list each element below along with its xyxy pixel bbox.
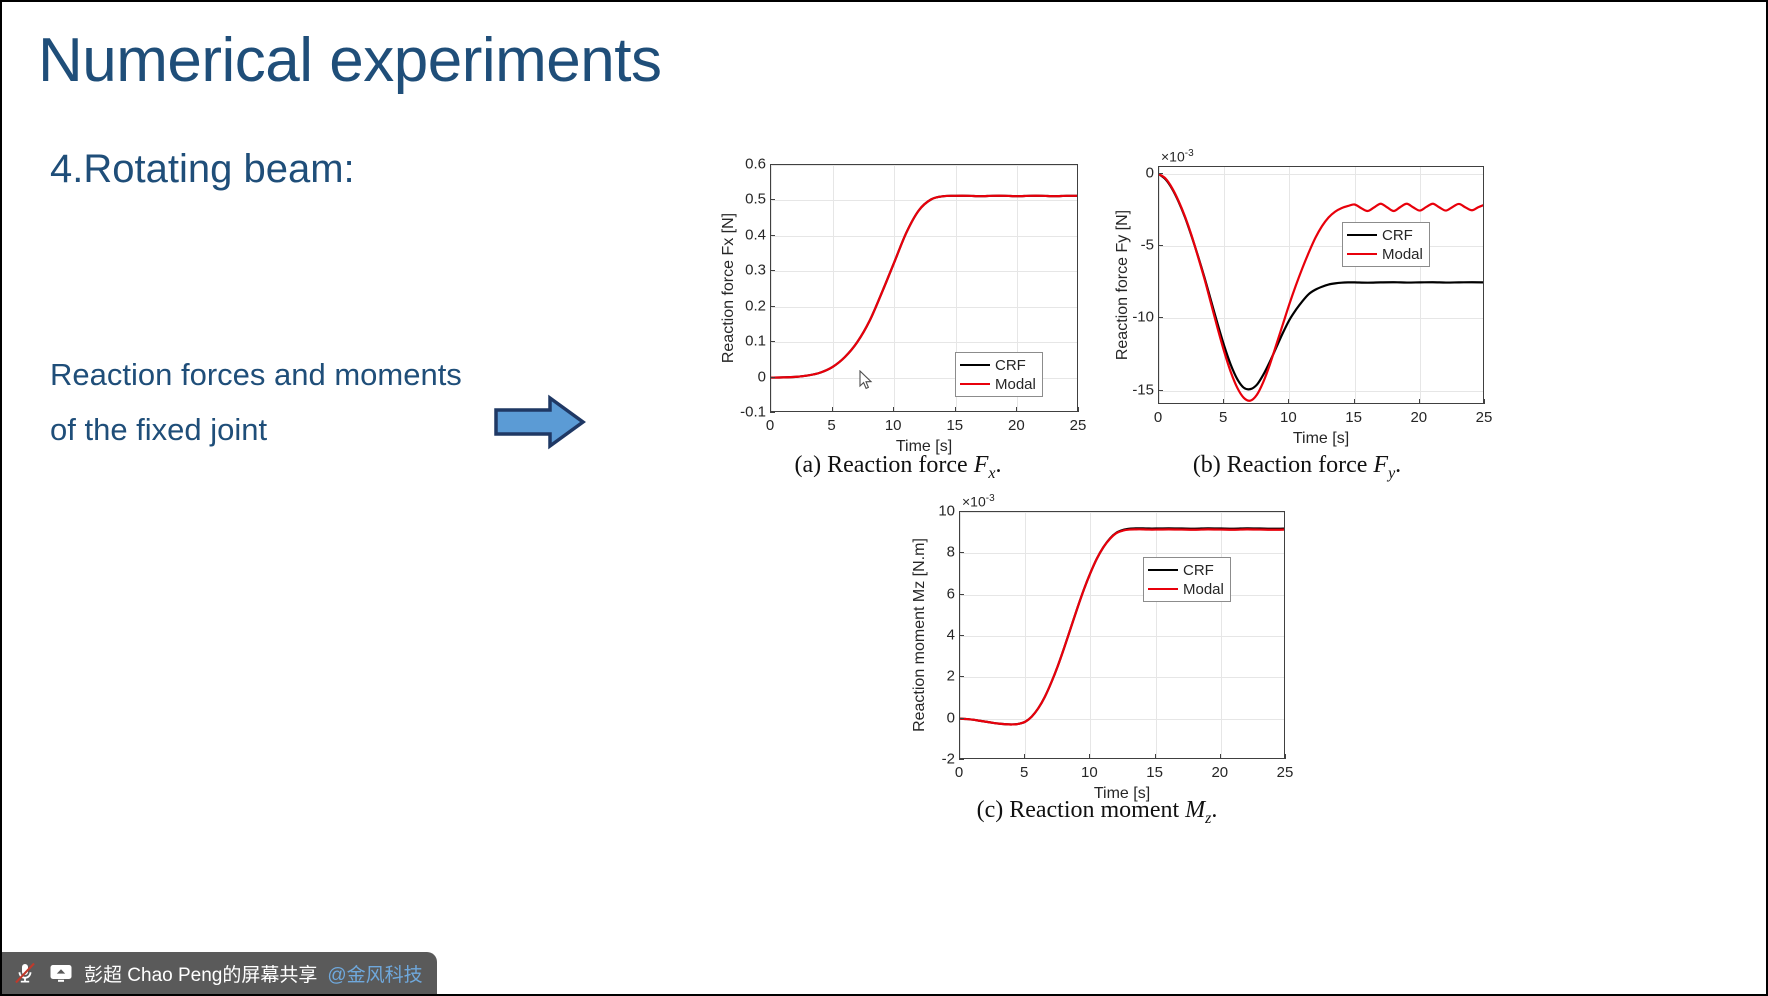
x-tick-mark (1158, 399, 1159, 404)
x-tick-label: 0 (766, 417, 774, 434)
share-org-tag: @金风科技 (327, 960, 422, 987)
series-line-modal (771, 196, 1078, 378)
chart-legend[interactable]: CRFModal (1143, 557, 1231, 602)
figure-reaction-force-fy: 05101520250-5-10-15Time [s]Reaction forc… (1102, 140, 1492, 452)
legend-label: CRF (1183, 563, 1214, 578)
legend-entry: Modal (960, 376, 1036, 392)
caption-b-prefix: (b) Reaction force (1193, 452, 1374, 478)
x-tick-mark (832, 407, 833, 412)
x-tick-label: 25 (1070, 417, 1087, 434)
series-line-crf (960, 528, 1285, 724)
x-tick-mark (1419, 399, 1420, 404)
y-tick-mark (959, 552, 964, 553)
page-title: Numerical experiments (38, 28, 662, 93)
mouse-pointer-icon (859, 370, 875, 392)
legend-label: Modal (1183, 582, 1224, 597)
legend-swatch-line (1148, 569, 1178, 571)
x-tick-mark (1024, 754, 1025, 759)
x-tick-mark (1223, 399, 1224, 404)
legend-entry: CRF (960, 357, 1036, 373)
series-layer (960, 512, 1285, 759)
legend-swatch-line (1347, 253, 1377, 255)
y-tick-mark (1158, 390, 1163, 391)
figure-caption-b: (b) Reaction force Fy. (1102, 452, 1492, 483)
series-line-modal (960, 529, 1285, 724)
legend-swatch-line (1148, 588, 1178, 590)
chart-legend[interactable]: CRFModal (955, 352, 1043, 397)
caption-c-prefix: (c) Reaction moment (977, 797, 1186, 823)
legend-label: CRF (1382, 228, 1413, 243)
x-tick-mark (1155, 754, 1156, 759)
y-tick-mark (959, 676, 964, 677)
y-tick-mark (959, 718, 964, 719)
body-text-line-2: of the fixed joint (50, 412, 267, 448)
caption-a-period: . (996, 452, 1002, 478)
x-tick-mark (1285, 754, 1286, 759)
screen-share-icon[interactable] (48, 960, 74, 986)
y-tick-mark (1158, 245, 1163, 246)
x-tick-label: 15 (1345, 409, 1362, 426)
legend-label: Modal (995, 377, 1036, 392)
y-tick-mark (959, 759, 964, 760)
caption-b-var: F (1373, 452, 1388, 478)
caption-c-var: M (1185, 797, 1205, 823)
axis-exponent-label: ×10-3 (962, 493, 995, 510)
x-tick-label: 15 (946, 417, 963, 434)
x-tick-mark (1220, 754, 1221, 759)
caption-a-prefix: (a) Reaction force (794, 452, 973, 478)
y-axis-label: Reaction moment Mz [N.m] (911, 511, 929, 759)
right-arrow-shape (494, 394, 586, 450)
caption-c-period: . (1211, 797, 1217, 823)
legend-swatch-line (960, 383, 990, 385)
caption-a-var: F (974, 452, 989, 478)
x-tick-label: 5 (1219, 409, 1227, 426)
x-tick-mark (1288, 399, 1289, 404)
y-tick-mark (770, 235, 775, 236)
x-tick-mark (893, 407, 894, 412)
presentation-slide: Numerical experiments 4.Rotating beam: R… (0, 0, 1768, 996)
legend-swatch-line (1347, 234, 1377, 236)
x-tick-mark (955, 407, 956, 412)
y-axis-label: Reaction force Fy [N] (1114, 166, 1132, 404)
legend-entry: Modal (1347, 246, 1423, 262)
x-tick-label: 25 (1277, 764, 1294, 781)
y-tick-mark (770, 199, 775, 200)
y-tick-mark (959, 594, 964, 595)
caption-b-period: . (1395, 452, 1401, 478)
x-tick-mark (1078, 407, 1079, 412)
series-layer (1159, 167, 1484, 404)
legend-label: CRF (995, 358, 1026, 373)
share-owner-label: 彭超 Chao Peng的屏幕共享 (84, 960, 317, 987)
y-tick-mark (770, 412, 775, 413)
x-tick-label: 20 (1008, 417, 1025, 434)
x-tick-label: 0 (1154, 409, 1162, 426)
y-tick-mark (770, 341, 775, 342)
x-axis-label: Time [s] (1158, 430, 1484, 448)
x-tick-label: 10 (1081, 764, 1098, 781)
legend-entry: Modal (1148, 581, 1224, 597)
figure-reaction-moment-mz: 0510152025-20246810Time [s]Reaction mome… (897, 485, 1297, 797)
x-tick-mark (1089, 754, 1090, 759)
x-tick-label: 15 (1146, 764, 1163, 781)
caption-a-sub: x (988, 465, 995, 482)
x-tick-label: 0 (955, 764, 963, 781)
figure-caption-c: (c) Reaction moment Mz. (897, 797, 1297, 828)
y-tick-mark (959, 511, 964, 512)
figure-caption-a: (a) Reaction force Fx. (708, 452, 1088, 483)
figure-reaction-force-fx: 0510152025-0.100.10.20.30.40.50.6Time [s… (708, 152, 1088, 452)
x-tick-mark (1484, 399, 1485, 404)
y-tick-mark (770, 306, 775, 307)
x-tick-label: 5 (827, 417, 835, 434)
zoom-screen-share-taskbar[interactable]: 彭超 Chao Peng的屏幕共享 @金风科技 (2, 952, 437, 994)
plot-area (959, 511, 1285, 759)
x-tick-mark (1354, 399, 1355, 404)
y-tick-mark (959, 635, 964, 636)
x-tick-label: 20 (1211, 764, 1228, 781)
y-tick-mark (770, 164, 775, 165)
x-tick-label: 10 (885, 417, 902, 434)
x-tick-label: 25 (1476, 409, 1493, 426)
y-tick-mark (770, 270, 775, 271)
x-tick-label: 10 (1280, 409, 1297, 426)
legend-label: Modal (1382, 247, 1423, 262)
x-tick-label: 20 (1410, 409, 1427, 426)
series-line-crf (1159, 174, 1484, 389)
axis-exponent-label: ×10-3 (1161, 148, 1194, 165)
section-subtitle: 4.Rotating beam: (50, 147, 355, 192)
body-text-line-1: Reaction forces and moments (50, 357, 462, 393)
legend-swatch-line (960, 364, 990, 366)
series-line-crf (771, 196, 1078, 378)
y-axis-label: Reaction force Fx [N] (720, 164, 738, 412)
chart-legend[interactable]: CRFModal (1342, 222, 1430, 267)
plot-area (1158, 166, 1484, 404)
legend-entry: CRF (1347, 227, 1423, 243)
y-tick-mark (1158, 317, 1163, 318)
x-tick-label: 5 (1020, 764, 1028, 781)
y-tick-mark (770, 377, 775, 378)
x-tick-mark (1016, 407, 1017, 412)
microphone-muted-icon[interactable] (12, 960, 38, 986)
legend-entry: CRF (1148, 562, 1224, 578)
y-tick-mark (1158, 173, 1163, 174)
